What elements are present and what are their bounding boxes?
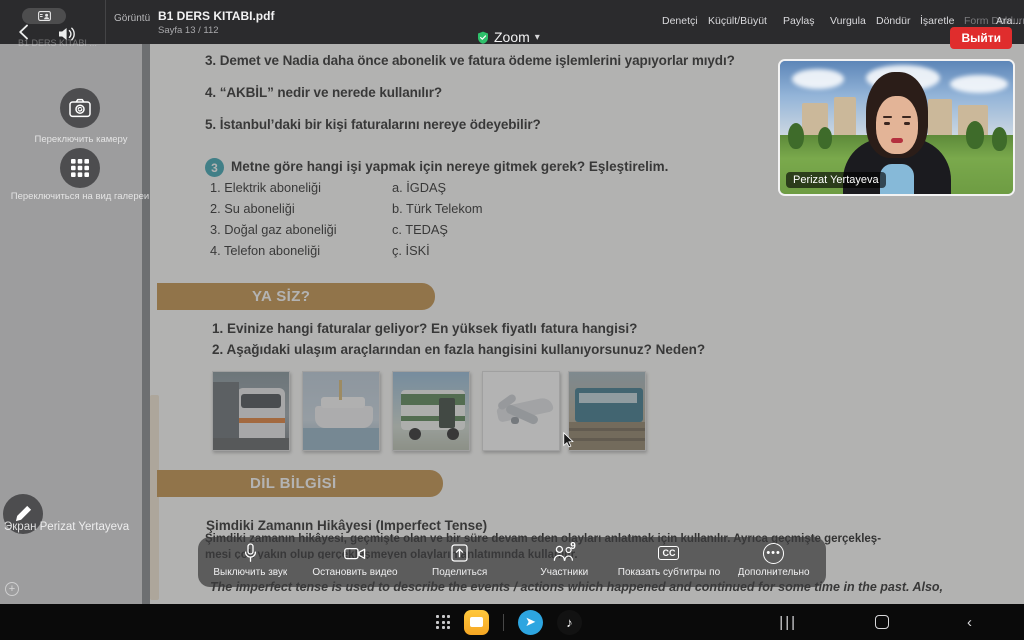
share-screen-icon <box>451 542 468 564</box>
participant-name-label: Perizat Yertayeva <box>786 172 886 188</box>
ya-siz-item-2: 2. Aşağıdaki ulaşım araçlarından en fazl… <box>212 342 705 357</box>
banner-dil-bilgisi: DİL BİLGİSİ <box>157 470 443 497</box>
doc-question-3: 3. Demet ve Nadia daha önce abonelik ve … <box>205 53 735 68</box>
switch-camera-button[interactable] <box>60 88 100 128</box>
taskbar-app-row: ➤ ♪ <box>436 610 582 635</box>
app-drawer-icon[interactable] <box>436 615 450 629</box>
more-options-button[interactable]: ••• Дополнительно <box>722 542 826 578</box>
closed-caption-icon: CC <box>658 542 679 564</box>
files-app-icon[interactable] <box>464 610 489 635</box>
mute-audio-button[interactable]: Выключить звук <box>198 542 302 578</box>
ya-siz-item-1: 1. Evinize hangi faturalar geliyor? En y… <box>212 321 637 336</box>
toolbar-divider <box>105 0 106 44</box>
pdf-page-count: Sayfa 13 / 112 <box>158 25 219 36</box>
match-right-a: a. İGDAŞ <box>392 180 446 195</box>
tree-shape <box>992 127 1007 151</box>
airplane-photo <box>482 371 560 451</box>
tree-shape <box>966 121 984 149</box>
cloud-shape <box>792 69 844 89</box>
stop-video-label: Остановить видео <box>312 567 397 578</box>
banner-ya-siz: YA SİZ? <box>157 283 435 310</box>
leave-meeting-button[interactable]: Выйти <box>950 27 1012 49</box>
zoom-meeting-chip[interactable]: Zoom ▾ <box>477 29 540 45</box>
metro-tram-photo <box>212 371 290 451</box>
match-left-3: 3. Doğal gaz aboneliği <box>210 222 337 237</box>
shield-check-icon <box>477 31 489 44</box>
meeting-control-bar: Выключить звук Остановить видео Поделить… <box>198 537 826 587</box>
menu-vurgula[interactable]: Vurgula <box>830 15 866 27</box>
share-screen-button[interactable]: Поделиться <box>408 542 512 578</box>
viewer-panel-divider <box>142 44 150 604</box>
stop-video-button[interactable]: Остановить видео <box>303 542 407 578</box>
ferry-boat-photo <box>302 371 380 451</box>
share-screen-label: Поделиться <box>432 567 487 578</box>
banner-ya-siz-label: YA SİZ? <box>252 288 310 305</box>
tiktok-app-icon[interactable]: ♪ <box>557 610 582 635</box>
menu-denetci[interactable]: Denetçi <box>662 15 698 27</box>
gallery-view-button[interactable] <box>60 148 100 188</box>
android-nav-row: ||| ‹ <box>779 614 1024 631</box>
view-label: Görüntü <box>114 13 150 24</box>
match-left-4: 4. Telefon aboneliği <box>210 243 320 258</box>
plus-circle-icon[interactable]: + <box>5 582 19 596</box>
page-margin-bar <box>150 395 159 600</box>
switch-camera-label: Переключить камеру <box>8 134 154 145</box>
home-nav-icon[interactable] <box>875 615 889 629</box>
zoom-meeting-label: Zoom <box>494 29 530 45</box>
switch-camera-icon <box>69 98 91 118</box>
participants-count-badge: 9 <box>570 541 576 552</box>
viewer-top-toolbar: B1 DERS KITABI ... Görüntü B1 DERS KITAB… <box>0 0 1024 44</box>
match-right-b: b. Türk Telekom <box>392 201 483 216</box>
chevron-down-icon[interactable]: ▾ <box>535 32 540 43</box>
match-left-1: 1. Elektrik aboneliği <box>210 180 321 195</box>
screen-root: 3. Demet ve Nadia daha önce abonelik ve … <box>0 0 1024 640</box>
match-left-2: 2. Su aboneliği <box>210 201 295 216</box>
closed-captions-label: Показать субтитры по <box>618 567 720 578</box>
match-right-c: c. TEDAŞ <box>392 222 448 237</box>
building-shape <box>834 97 856 137</box>
doc-question-5: 5. İstanbul’daki bir kişi faturalarını n… <box>205 117 541 132</box>
grid-view-icon <box>70 158 90 178</box>
tree-shape <box>818 127 832 149</box>
menu-isaretle[interactable]: İşaretle <box>920 15 954 27</box>
viewer-faint-title: B1 DERS KITABI ... <box>18 38 97 48</box>
recents-nav-icon[interactable]: ||| <box>779 614 797 631</box>
building-shape <box>928 99 952 137</box>
video-camera-icon <box>344 542 366 564</box>
exercise-number-badge: 3 <box>205 158 224 177</box>
closed-captions-button[interactable]: CC Показать субтитры по <box>617 542 721 578</box>
pdf-file-name: B1 DERS KITABI.pdf <box>158 9 274 23</box>
taskbar-divider <box>503 614 504 631</box>
city-bus-photo <box>392 371 470 451</box>
presenter-card-icon <box>38 11 51 21</box>
mute-audio-label: Выключить звук <box>213 567 287 578</box>
person-face <box>876 96 918 154</box>
participants-button[interactable]: 9 Участники <box>512 542 616 578</box>
mouse-cursor <box>563 432 574 448</box>
back-nav-icon[interactable]: ‹ <box>967 614 972 631</box>
more-options-label: Дополнительно <box>738 567 810 578</box>
participant-video-tile[interactable]: Perizat Yertayeva <box>778 59 1015 196</box>
telegram-app-icon[interactable]: ➤ <box>518 610 543 635</box>
banner-dil-bilgisi-label: DİL BİLGİSİ <box>250 475 337 492</box>
android-taskbar: ➤ ♪ ||| ‹ <box>0 604 1024 640</box>
exercise-3-prompt: Metne göre hangi işi yapmak için nereye … <box>231 159 668 174</box>
match-right-c-cedilla: ç. İSKİ <box>392 243 430 258</box>
screen-share-owner-label: Экран Perizat Yertayeva <box>4 521 129 533</box>
menu-paylas[interactable]: Paylaş <box>783 15 815 27</box>
menu-ara[interactable]: Ara... <box>996 15 1021 27</box>
participants-label: Участники <box>540 567 588 578</box>
tree-shape <box>788 123 804 149</box>
microphone-icon <box>244 542 257 564</box>
gallery-view-label: Переключиться на вид галереи <box>0 191 160 202</box>
cloud-shape <box>950 75 1008 93</box>
menu-dondur[interactable]: Döndür <box>876 15 910 27</box>
more-options-icon: ••• <box>763 542 784 564</box>
menu-kucult-buyut[interactable]: Küçült/Büyüt <box>708 15 767 27</box>
train-photo <box>568 371 646 451</box>
doc-question-4: 4. “AKBİL” nedir ve nerede kullanılır? <box>205 85 442 100</box>
